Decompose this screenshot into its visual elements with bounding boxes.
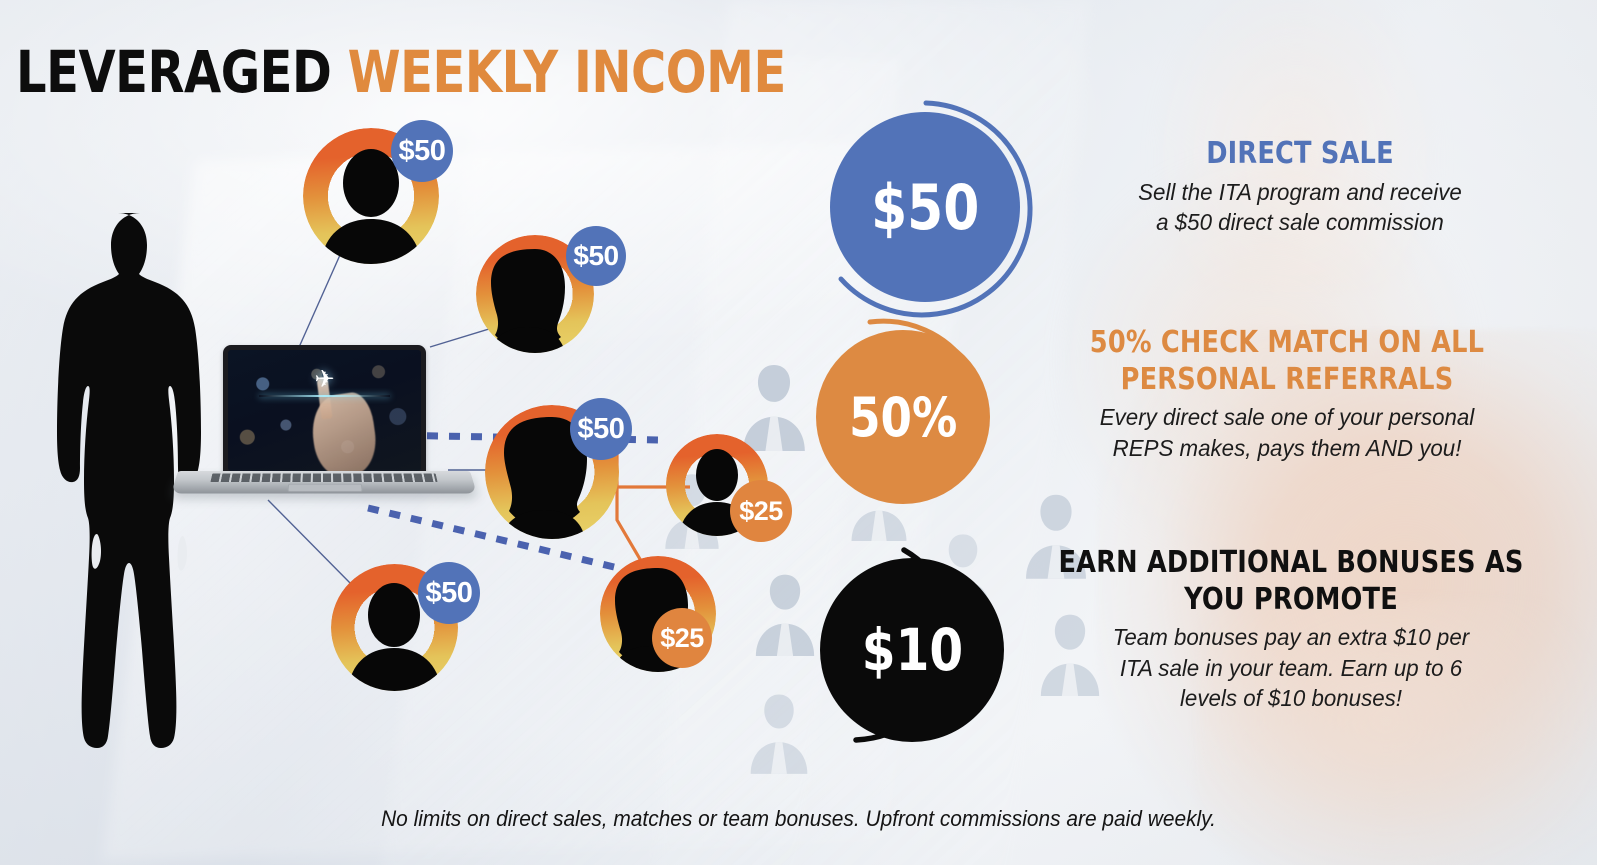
ghost-person-icon [745,690,813,776]
badge-label: $50 [399,135,446,168]
badge-25-center-right: $25 [730,480,792,542]
section-body-check-match: Every direct sale one of your personal R… [1011,402,1564,463]
footer-note: No limits on direct sales, matches or te… [40,806,1557,832]
section-copy-check-match: 50% CHECK MATCH ON ALL PERSONAL REFERRAL… [1002,325,1572,463]
laptop-icon: ✈ [178,345,470,510]
ghost-person-icon [737,360,811,452]
airplane-icon: ✈ [314,368,334,392]
circle-value-label: $10 [861,616,962,684]
badge-50-bottom-left: $50 [418,562,480,624]
section-heading-check-match: 50% CHECK MATCH ON ALL PERSONAL REFERRAL… [1016,325,1558,398]
value-circle-50: $50 [830,112,1020,302]
section-heading-team-bonus: EARN ADDITIONAL BONUSES AS YOU PROMOTE [1024,545,1558,618]
section-copy-team-bonus: EARN ADDITIONAL BONUSES AS YOU PROMOTE T… [1010,545,1572,714]
page-title-accent: WEEKLY INCOME [348,38,786,106]
value-circle-10: $10 [820,558,1004,742]
section-heading-direct-sale: DIRECT SALE [1044,136,1557,173]
section-body-team-bonus: Team bonuses pay an extra $10 per ITA sa… [1018,622,1563,714]
circle-value-label: 50% [849,386,957,449]
badge-50-center: $50 [570,398,632,460]
badge-label: $50 [426,577,473,610]
section-circle-direct-sale: $50 [808,98,1038,318]
badge-label: $25 [660,623,704,654]
infographic-canvas: LEVERAGED WEEKLY INCOME [0,0,1597,865]
page-title-primary: LEVERAGED [16,38,331,106]
section-copy-direct-sale: DIRECT SALE Sell the ITA program and rec… [1030,136,1570,238]
section-body-direct-sale: Sell the ITA program and receive a $50 d… [1038,177,1562,238]
badge-label: $50 [578,413,625,446]
badge-50-top-left: $50 [391,120,453,182]
badge-25-bottom-right: $25 [652,608,712,668]
badge-label: $50 [573,240,618,272]
section-circle-check-match: 50% [806,312,1026,517]
badge-50-top-right: $50 [566,226,626,286]
page-title: LEVERAGED WEEKLY INCOME [16,43,786,101]
section-circle-team-bonus: $10 [808,544,1030,758]
badge-label: $25 [739,496,783,527]
value-circle-50pct: 50% [816,330,990,504]
circle-value-label: $50 [871,171,979,244]
